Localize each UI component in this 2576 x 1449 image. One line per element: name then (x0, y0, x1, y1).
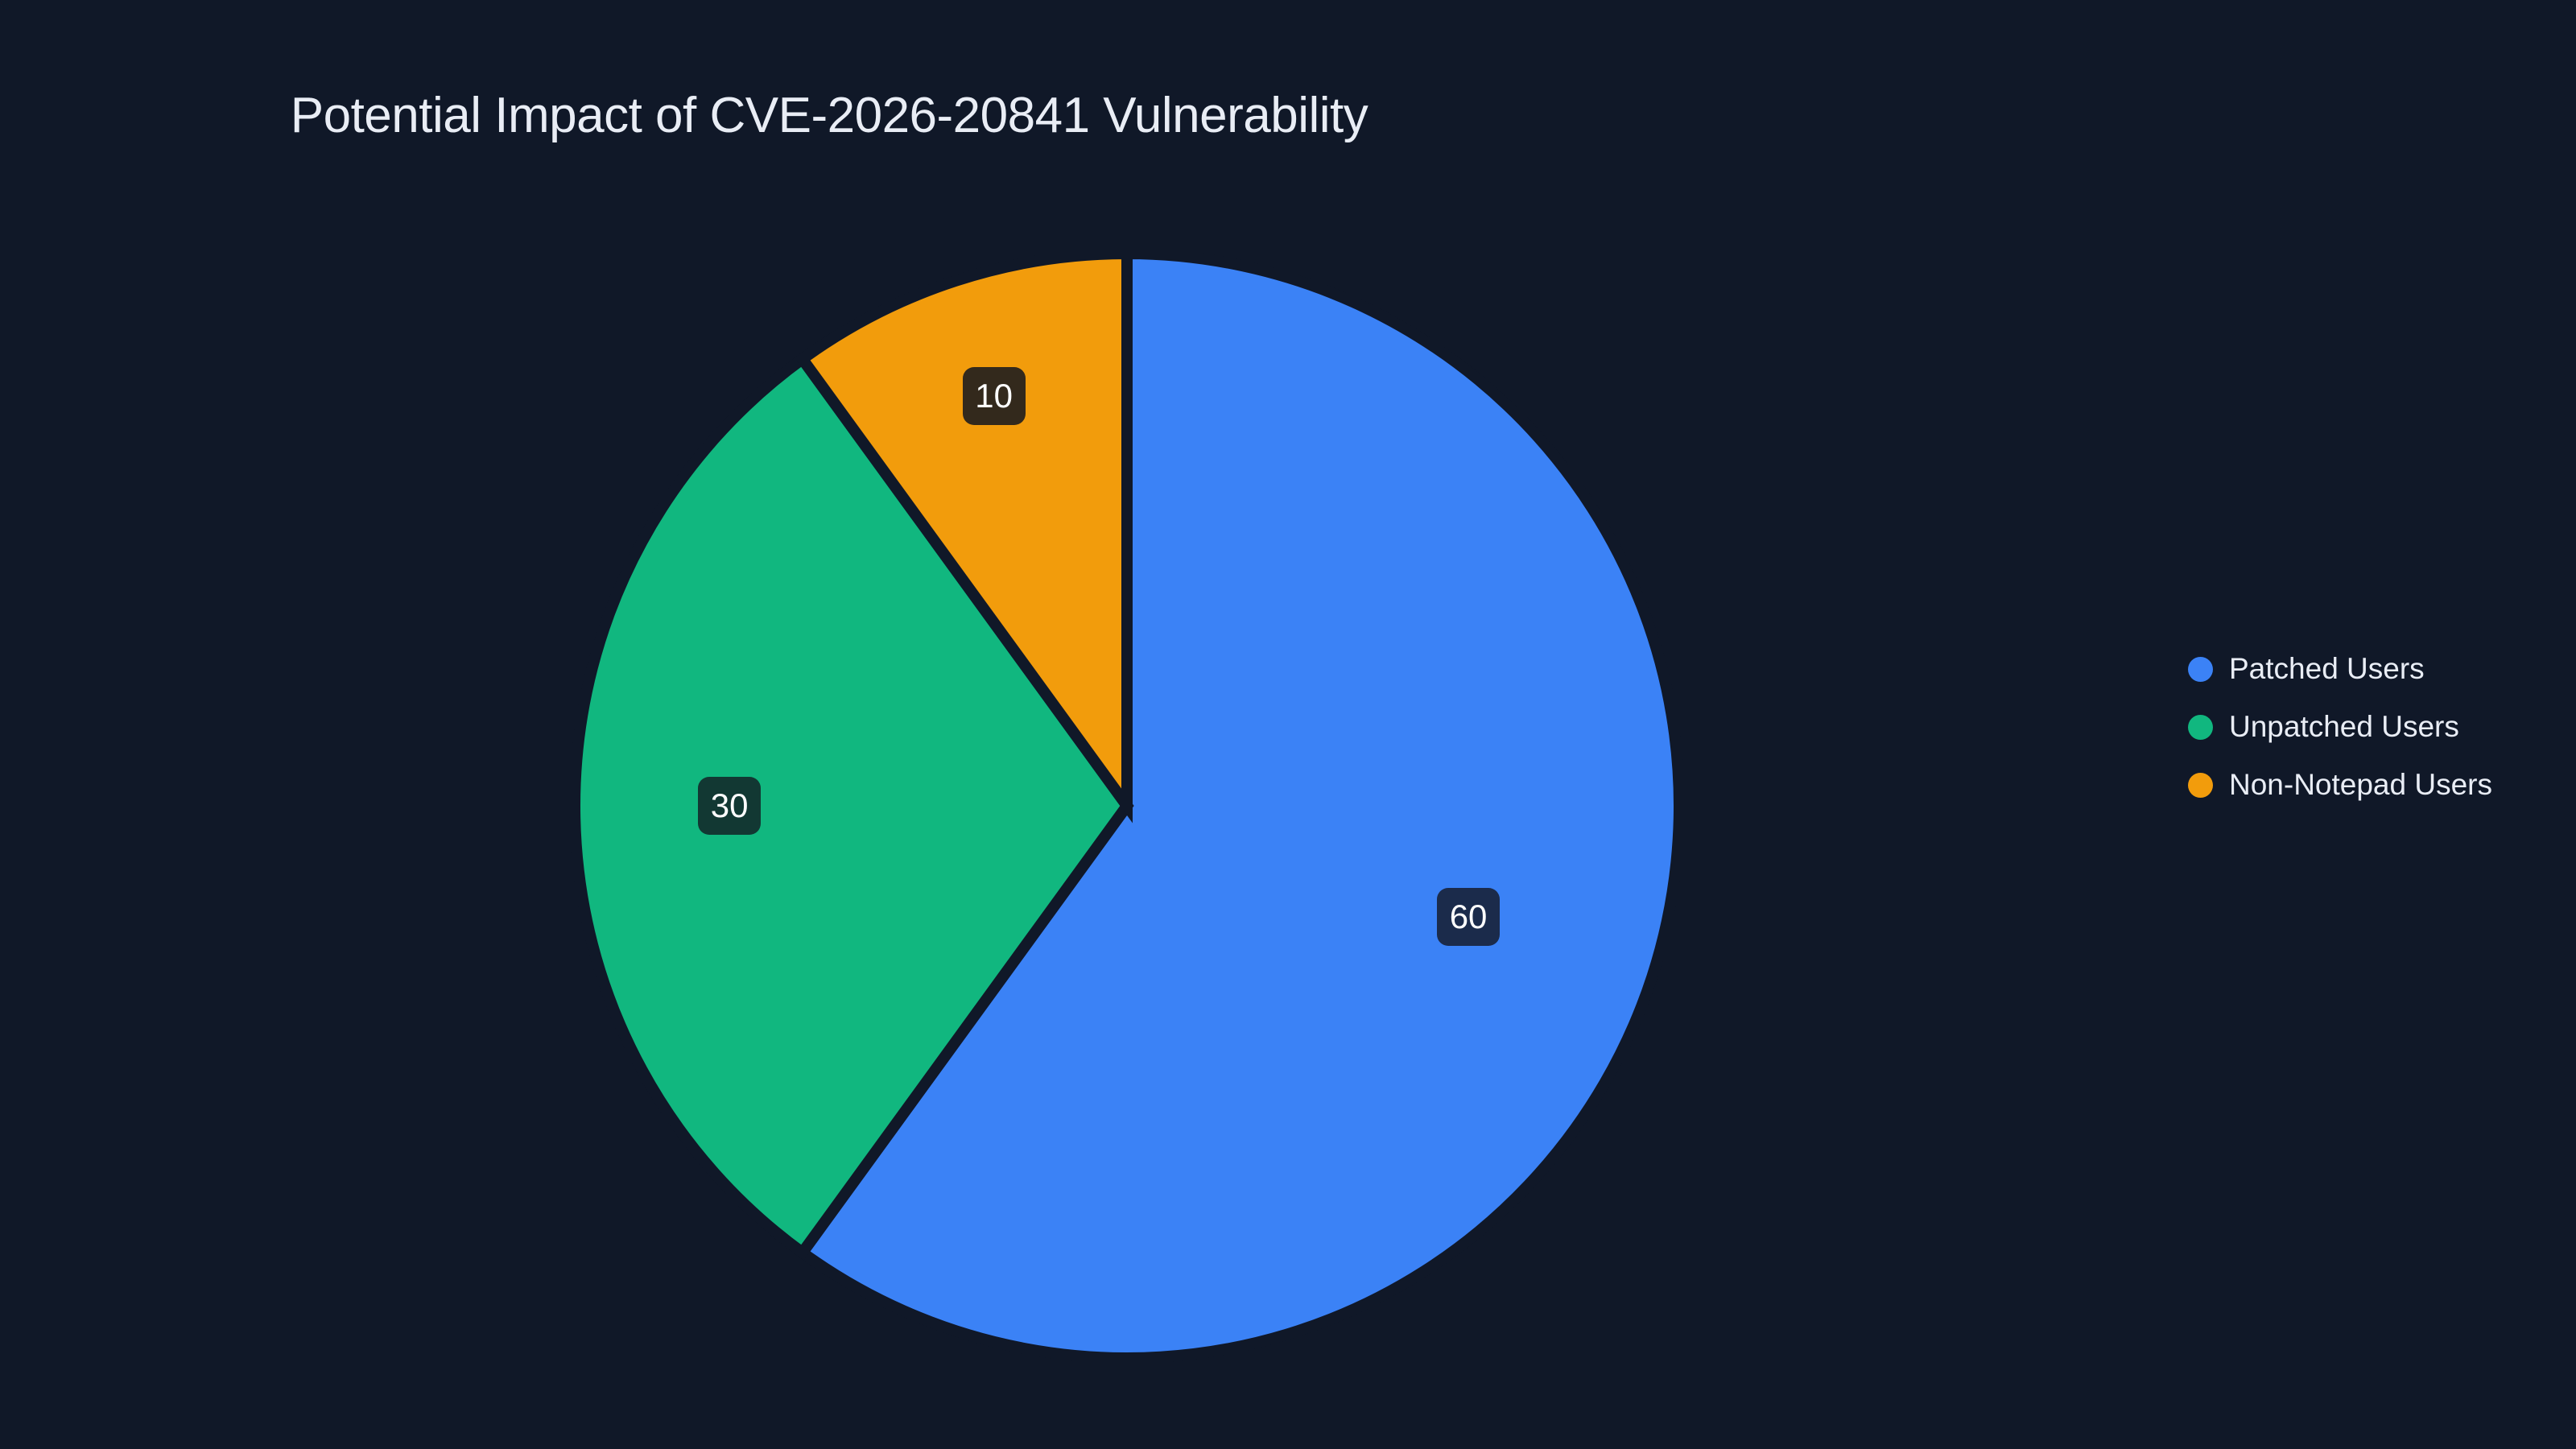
legend-item-label: Non-Notepad Users (2229, 768, 2492, 802)
slice-value-text: 10 (975, 379, 1013, 413)
legend-color-swatch-icon (2188, 657, 2213, 682)
legend-item-label: Unpatched Users (2229, 710, 2459, 744)
chart-canvas: Potential Impact of CVE-2026-20841 Vulne… (0, 0, 2576, 1449)
legend-item-non-notepad-users[interactable]: Non-Notepad Users (2188, 756, 2492, 814)
legend-item-unpatched-users[interactable]: Unpatched Users (2188, 698, 2492, 756)
legend-item-label: Patched Users (2229, 652, 2425, 686)
slice-value-label-non-notepad-users: 10 (963, 367, 1026, 425)
slice-value-text: 30 (711, 789, 749, 823)
legend-item-patched-users[interactable]: Patched Users (2188, 640, 2492, 698)
legend-color-swatch-icon (2188, 773, 2213, 798)
slice-value-label-patched-users: 60 (1437, 888, 1500, 946)
legend-color-swatch-icon (2188, 715, 2213, 740)
slice-value-label-unpatched-users: 30 (698, 777, 761, 835)
chart-legend: Patched Users Unpatched Users Non-Notepa… (2188, 640, 2492, 814)
slice-value-text: 60 (1450, 900, 1488, 934)
